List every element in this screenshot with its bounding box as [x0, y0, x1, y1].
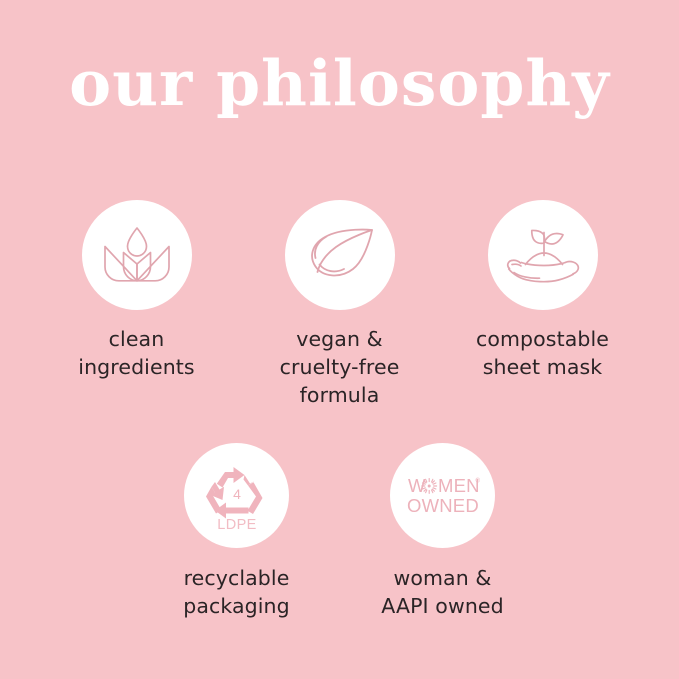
badge-circle: [488, 200, 598, 310]
caption-line: vegan &: [280, 326, 400, 354]
caption-line: formula: [280, 382, 400, 410]
badge-caption: recyclable packaging: [183, 565, 290, 621]
badge-circle: W: [390, 443, 495, 548]
caption-line: AAPI owned: [381, 593, 503, 621]
badge-vegan-cruelty-free: vegan & cruelty-free formula: [238, 200, 441, 410]
recycling-ldpe-icon: 4 LDPE: [203, 461, 271, 531]
page-title: our philosophy: [0, 52, 679, 115]
hand-sprout-icon: [503, 222, 583, 288]
badge-caption: compostable sheet mask: [476, 326, 609, 382]
badge-circle: 4 LDPE: [184, 443, 289, 548]
leaf-icon: [303, 225, 377, 285]
recycling-material-label: LDPE: [217, 517, 256, 531]
philosophy-infographic: our philosophy: [0, 0, 679, 679]
starburst-icon: [421, 478, 436, 493]
badge-circle: [285, 200, 395, 310]
caption-line: ingredients: [78, 354, 194, 382]
women-owned-badge-icon: W: [402, 473, 484, 519]
badge-caption: vegan & cruelty-free formula: [280, 326, 400, 410]
women-owned-line-1-post: MEN: [438, 475, 480, 496]
badge-recyclable-packaging: 4 LDPE recyclable packaging: [134, 443, 340, 621]
badge-caption: clean ingredients: [78, 326, 194, 382]
badge-clean-ingredients: clean ingredients: [35, 200, 238, 382]
caption-line: cruelty-free: [280, 354, 400, 382]
caption-line: clean: [78, 326, 194, 354]
caption-line: packaging: [183, 593, 290, 621]
badge-circle: [82, 200, 192, 310]
registered-trademark-icon: ®: [475, 477, 480, 484]
badge-caption: woman & AAPI owned: [381, 565, 503, 621]
droplet-lotus-icon: [101, 222, 173, 288]
women-owned-line-2: OWNED: [407, 495, 479, 516]
caption-line: woman &: [381, 565, 503, 593]
badge-row-bottom: 4 LDPE recyclable packaging W: [0, 443, 679, 621]
badge-compostable-sheet-mask: compostable sheet mask: [441, 200, 644, 382]
recycling-code-number: 4: [233, 486, 241, 502]
caption-line: recyclable: [183, 565, 290, 593]
caption-line: compostable: [476, 326, 609, 354]
badge-row-top: clean ingredients: [0, 200, 679, 410]
badge-woman-aapi-owned: W: [340, 443, 546, 621]
caption-line: sheet mask: [476, 354, 609, 382]
